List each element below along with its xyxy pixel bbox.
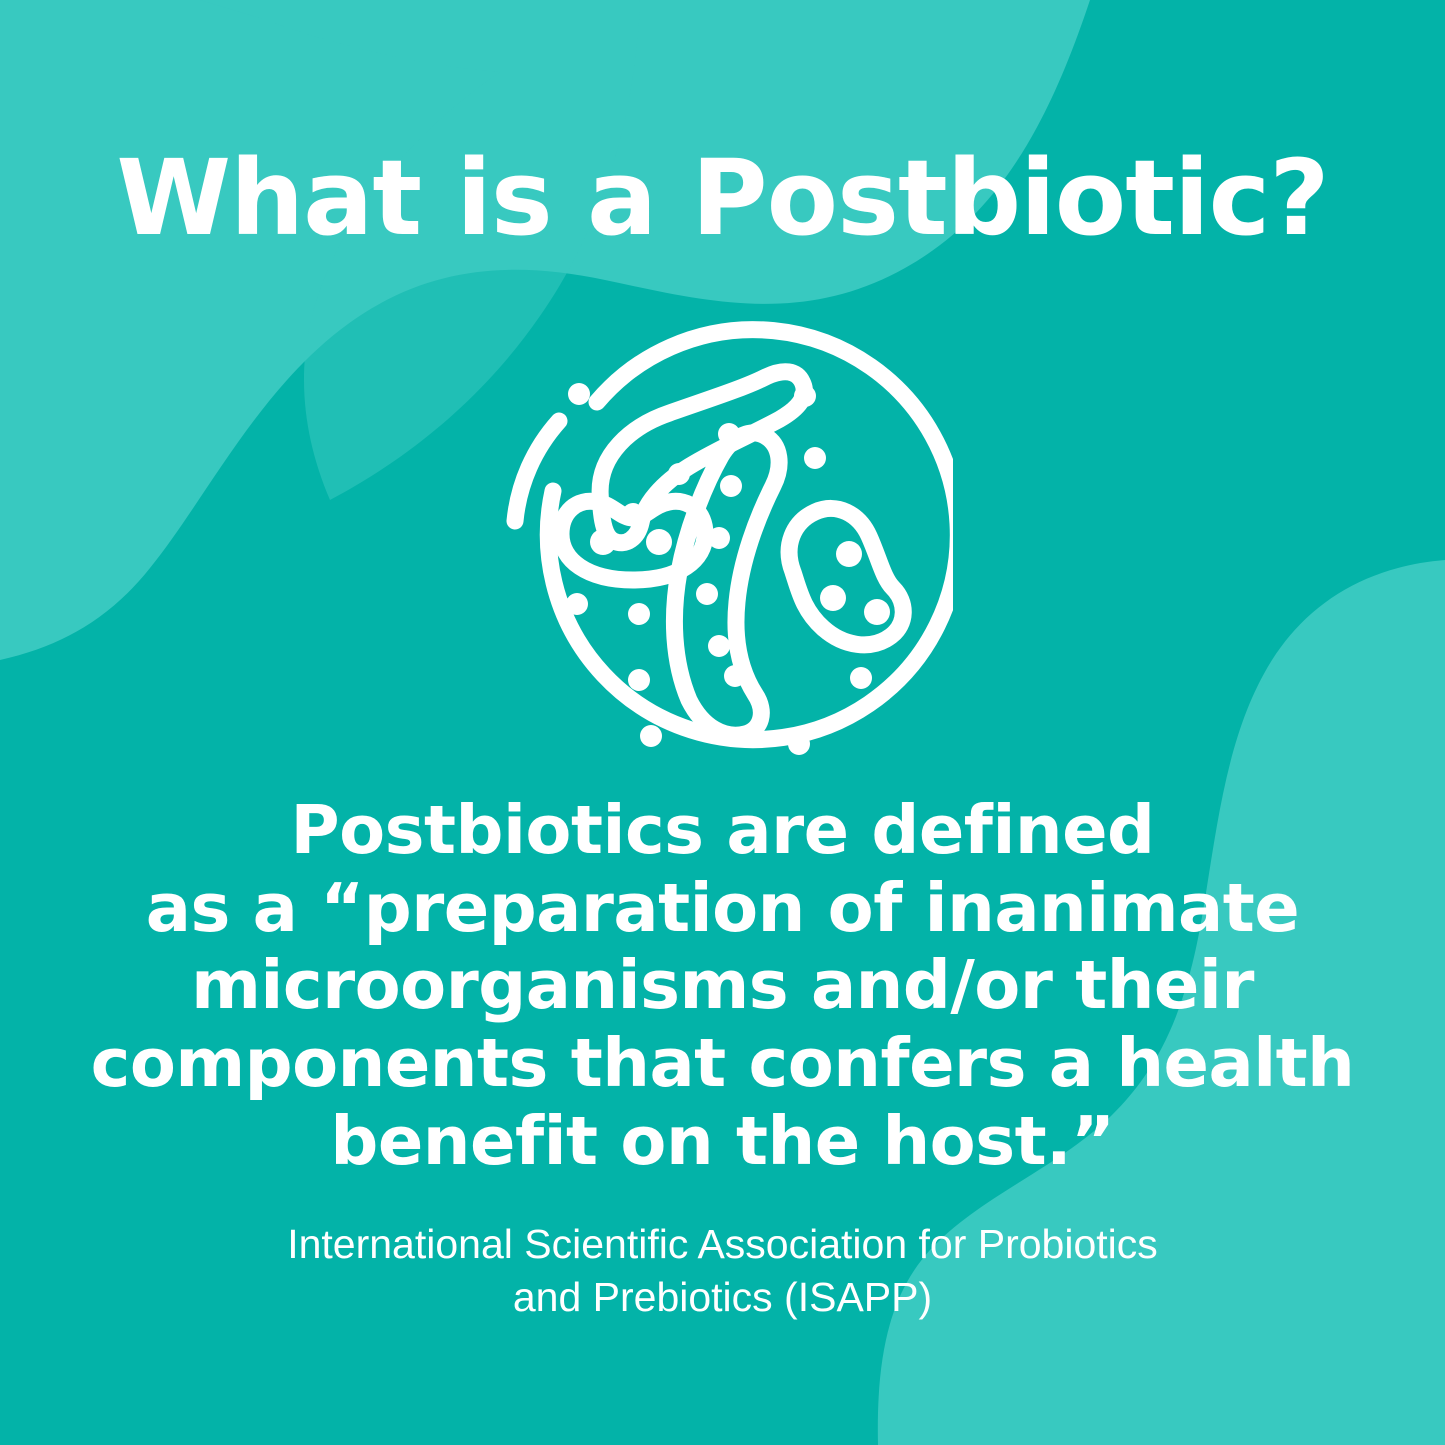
postbiotic-infographic: What is a Postbiotic? <box>0 0 1445 1445</box>
quote-line-1: Postbiotics are defined <box>0 792 1445 870</box>
attribution-line-1: International Scientific Association for… <box>0 1218 1445 1271</box>
attribution-block: International Scientific Association for… <box>0 1218 1445 1325</box>
bacterium-kidney-right <box>789 508 903 644</box>
quote-block: Postbiotics are defined as a “preparatio… <box>0 792 1445 1181</box>
page-title: What is a Postbiotic? <box>0 142 1445 254</box>
attribution-line-2: and Prebiotics (ISAPP) <box>0 1271 1445 1324</box>
petri-dish-bacteria-icon <box>493 316 953 776</box>
quote-line-3: microorganisms and/or their <box>0 947 1445 1025</box>
quote-line-4: components that confers a health <box>0 1025 1445 1103</box>
quote-line-2: as a “preparation of inanimate <box>0 870 1445 948</box>
quote-line-5: benefit on the host.” <box>0 1103 1445 1181</box>
